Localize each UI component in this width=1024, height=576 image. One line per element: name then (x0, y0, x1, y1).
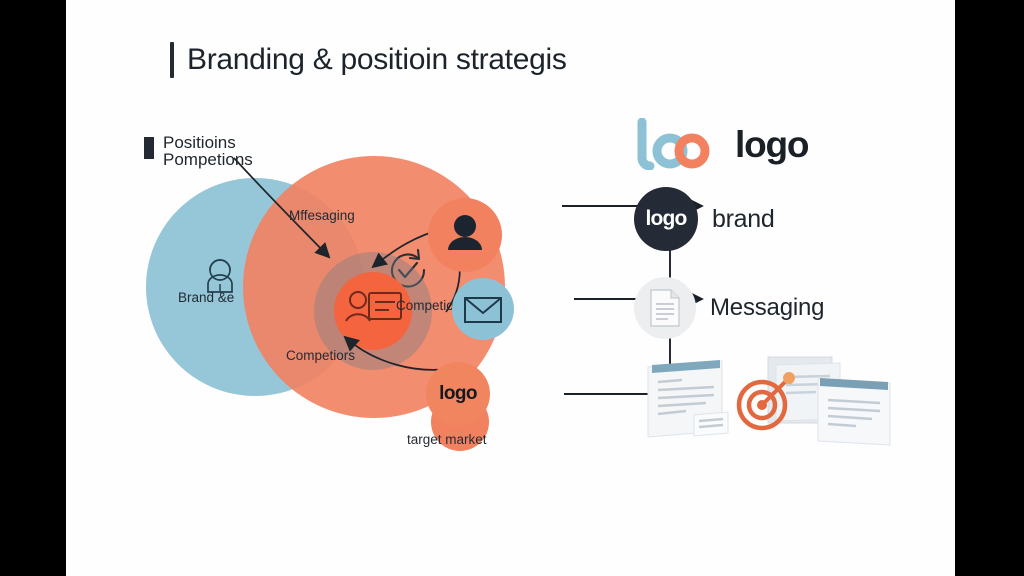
document-card-left (648, 360, 728, 437)
brand-badge-text: logo (645, 207, 686, 231)
document-icon (648, 288, 682, 328)
logo-row: logo (634, 118, 934, 170)
document-card-right (818, 378, 890, 445)
page-title: Branding & positioin strategis (170, 42, 567, 78)
loop-logo-mark (634, 118, 722, 170)
messaging-badge (634, 277, 696, 339)
title-text: Branding & positioin strategis (187, 43, 567, 77)
brand-row: logo brand (634, 187, 934, 251)
venn-bubble-logo: logo (426, 362, 490, 426)
venn-diagram: Mffesaging Brand &e Competiors Competior… (146, 150, 566, 460)
person-avatar-icon (428, 198, 502, 272)
envelope-icon (452, 278, 514, 340)
venn-bubble-person (428, 198, 502, 272)
logo-wordmark: logo (735, 126, 808, 163)
slide-canvas: Branding & positioin strategis Positioin… (66, 0, 955, 576)
messaging-row: Messaging (634, 277, 934, 339)
caption-lines: Positioins Pompetions (163, 134, 253, 169)
title-accent-bar (170, 42, 174, 78)
messaging-label: Messaging (710, 294, 824, 322)
caption-line-1: Positioins (163, 134, 253, 151)
caption-line-2: Pompetions (163, 151, 253, 168)
venn-bubble-logo-text: logo (439, 383, 477, 405)
positioning-caption: Positioins Pompetions (144, 134, 253, 169)
venn-label-target-market: target market (407, 432, 487, 447)
brand-logo-badge: logo (634, 187, 698, 251)
venn-label-competitors-bottom: Competiors (286, 348, 355, 363)
caption-marker (144, 137, 154, 159)
venn-label-brand: Brand &e (178, 290, 234, 305)
brand-label: brand (712, 205, 774, 234)
venn-bubble-mail (452, 278, 514, 340)
slide-frame: Branding & positioin strategis Positioin… (0, 0, 1024, 576)
right-panel: logo logo brand (634, 118, 934, 454)
venn-label-messaging: Mffesaging (289, 208, 355, 223)
document-cards-cluster (636, 353, 898, 449)
